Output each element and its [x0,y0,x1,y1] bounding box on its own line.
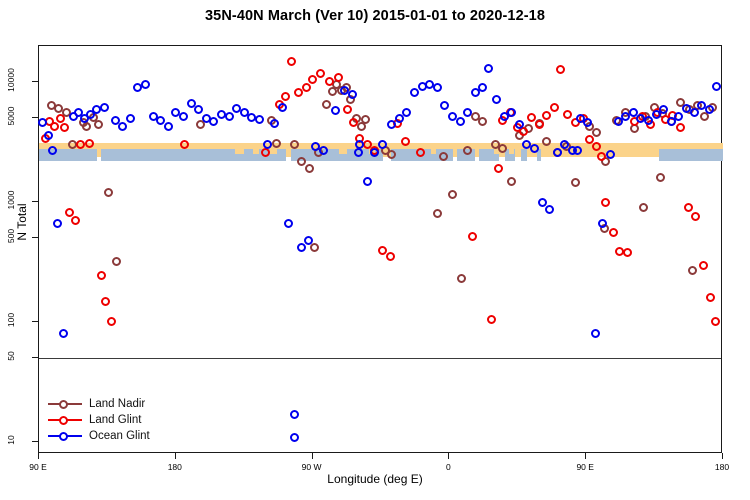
legend-marker-icon [48,413,82,427]
data-point [308,75,317,84]
data-point [334,73,343,82]
y-axis-tick [32,81,38,82]
land-band-speckle [339,148,347,154]
data-point [639,203,648,212]
data-point [463,108,472,117]
data-point [284,219,293,228]
chart-title: 35N-40N March (Ver 10) 2015-01-01 to 202… [0,8,750,24]
ocean-band-segment [521,149,527,161]
data-point [164,122,173,131]
data-point [281,92,290,101]
data-point [609,228,618,237]
data-point [141,80,150,89]
data-point [126,114,135,123]
data-point [597,152,606,161]
data-point [545,205,554,214]
legend-label: Land Nadir [89,398,145,410]
legend-item-land-nadir[interactable]: Land Nadir [48,396,150,412]
ocean-band-segment [659,149,723,161]
data-point [592,128,601,137]
data-point [290,433,299,442]
chart-root: 35N-40N March (Ver 10) 2015-01-01 to 202… [0,0,750,500]
data-point [50,122,59,131]
data-point [601,198,610,207]
data-point [478,117,487,126]
data-point [550,103,559,112]
data-point [699,261,708,270]
legend-label: Land Glint [89,414,141,426]
data-point [378,246,387,255]
y-axis-label: N Total [15,182,29,262]
data-point [263,140,272,149]
data-point [623,248,632,257]
data-point [684,203,693,212]
data-point [343,105,352,114]
data-point [386,252,395,261]
y-axis-tick-label: 10000 [6,63,16,97]
data-point [104,188,113,197]
data-point [535,120,544,129]
data-point [76,140,85,149]
data-point [468,232,477,241]
data-point [322,100,331,109]
data-point [402,108,411,117]
data-point [659,105,668,114]
data-point [255,115,264,124]
data-point [478,83,487,92]
land-band-speckle [235,148,244,154]
data-point [456,117,465,126]
data-point [194,105,203,114]
data-point [305,164,314,173]
data-point [691,212,700,221]
data-point [287,57,296,66]
y-axis-tick [32,441,38,442]
x-axis-tick [585,453,586,459]
x-axis-tick-label: 90 E [8,462,68,472]
data-point [97,271,106,280]
data-point [118,122,127,131]
data-point [363,177,372,186]
data-point [674,112,683,121]
data-point [401,137,410,146]
y-axis-tick-label: 5000 [6,99,16,133]
data-point [591,329,600,338]
x-axis-label: Longitude (deg E) [0,472,750,486]
data-point [82,122,91,131]
data-point [573,146,582,155]
data-point [354,148,363,157]
data-point [706,293,715,302]
y-axis-tick-label: 100 [6,303,16,337]
x-axis-tick [38,453,39,459]
data-point [457,274,466,283]
data-point [538,198,547,207]
data-point [571,178,580,187]
legend-marker-icon [48,429,82,443]
data-point [440,101,449,110]
data-point [100,103,109,112]
y-axis-tick-label: 10 [6,423,16,457]
data-point [225,112,234,121]
x-axis-tick-label: 90 W [282,462,342,472]
legend-item-land-glint[interactable]: Land Glint [48,412,150,428]
x-axis-tick-label: 90 E [555,462,615,472]
data-point [387,120,396,129]
y-axis-tick-label: 50 [6,339,16,373]
data-point [416,148,425,157]
y-axis-tick [32,117,38,118]
x-axis-tick-label: 0 [418,462,478,472]
data-point [60,123,69,132]
data-point [71,216,80,225]
data-point [316,69,325,78]
data-point [507,108,516,117]
data-point [112,257,121,266]
data-point [53,219,62,228]
data-point [107,317,116,326]
legend: Land NadirLand GlintOcean Glint [48,396,150,444]
land-band-speckle [431,148,436,154]
data-point [606,150,615,159]
data-point [712,82,721,91]
x-axis-tick [175,453,176,459]
data-point [644,116,653,125]
data-point [676,123,685,132]
land-band-speckle [253,148,259,154]
data-point [44,131,53,140]
data-point [492,95,501,104]
data-point [361,115,370,124]
legend-item-ocean-glint[interactable]: Ocean Glint [48,428,150,444]
data-point [563,110,572,119]
data-point [278,103,287,112]
x-axis-tick [312,453,313,459]
data-point [270,119,279,128]
data-point [656,173,665,182]
data-point [272,139,281,148]
data-point [463,146,472,155]
data-point [433,83,442,92]
data-point [290,410,299,419]
data-point [304,236,313,245]
y-axis-tick [32,237,38,238]
data-point [179,112,188,121]
data-point [101,297,110,306]
data-point [487,315,496,324]
x-axis-tick [448,453,449,459]
data-point [507,177,516,186]
data-point [527,113,536,122]
data-point [297,157,306,166]
data-point [448,190,457,199]
y-axis-tick [32,357,38,358]
data-point [319,146,328,155]
data-point [690,108,699,117]
data-point [556,65,565,74]
data-point [209,117,218,126]
plot-area [38,45,722,453]
legend-label: Ocean Glint [89,430,150,442]
data-point [494,164,503,173]
data-point [553,148,562,157]
data-point [331,106,340,115]
data-point [711,317,720,326]
land-band-speckle [270,148,277,154]
data-point [348,90,357,99]
land-band-speckle [509,148,514,154]
x-axis-tick [722,453,723,459]
data-point [530,144,539,153]
data-point [705,105,714,114]
data-point [542,111,551,120]
data-point [302,83,311,92]
data-point [688,266,697,275]
data-point [85,139,94,148]
legend-marker-icon [48,397,82,411]
data-point [38,118,47,127]
data-point [439,152,448,161]
data-point [261,148,270,157]
data-point [433,209,442,218]
data-point [325,77,334,86]
y-axis-tick [32,201,38,202]
data-point [94,120,103,129]
reference-line-50 [39,358,721,359]
data-point [56,114,65,123]
data-point [310,243,319,252]
y-axis-tick [32,321,38,322]
data-point [387,150,396,159]
x-axis-tick-label: 180 [692,462,750,472]
data-point [484,64,493,73]
data-point [59,329,68,338]
data-point [410,88,419,97]
x-axis-tick-label: 180 [145,462,205,472]
